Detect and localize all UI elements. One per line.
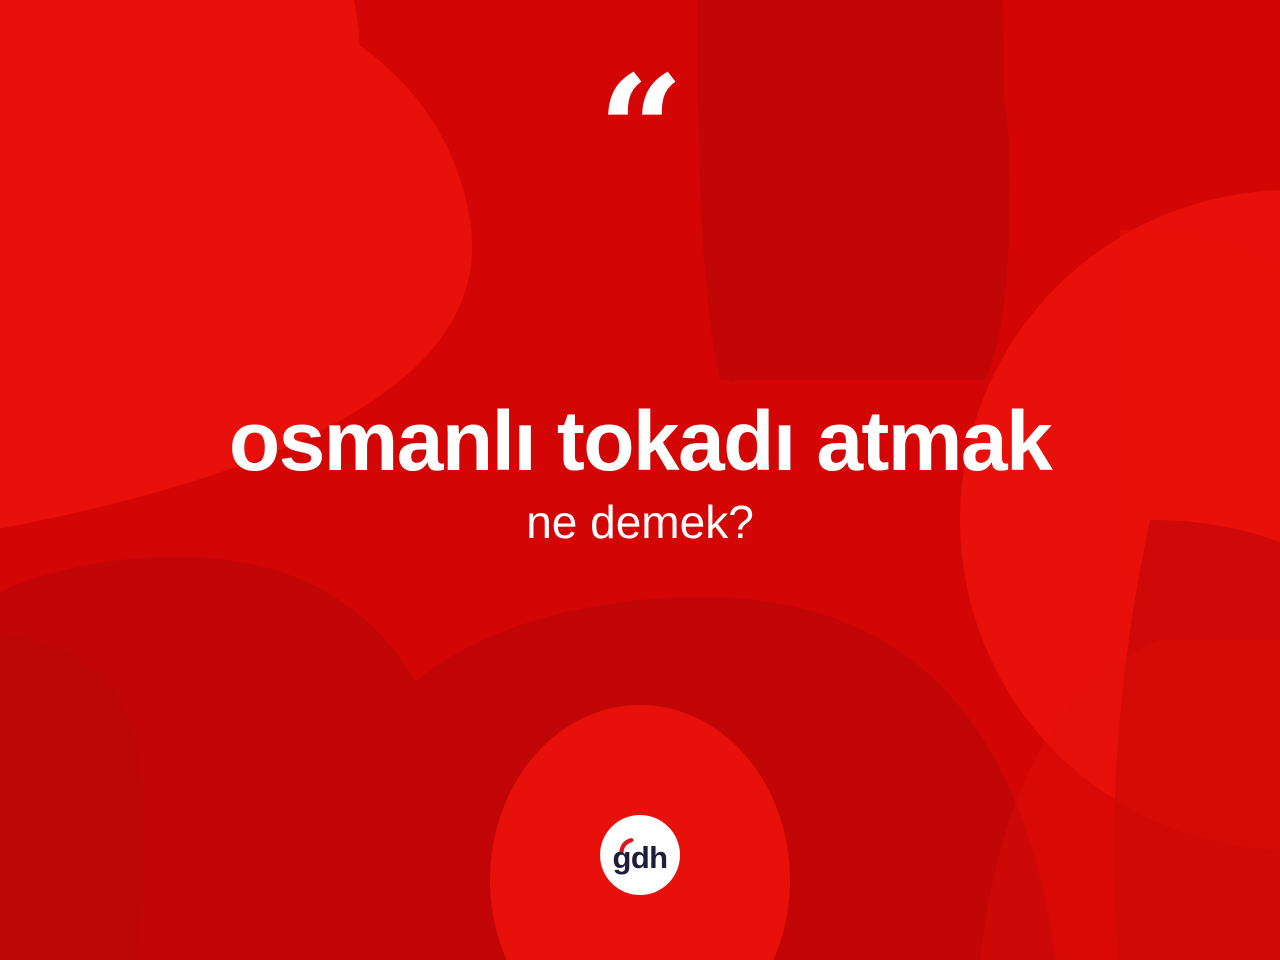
text-block: osmanlı tokadı atmak ne demek? xyxy=(0,398,1280,548)
social-quote-card: “ osmanlı tokadı atmak ne demek? gdh xyxy=(0,0,1280,960)
logo-wordmark: gdh xyxy=(612,840,667,875)
card-content: “ osmanlı tokadı atmak ne demek? gdh xyxy=(0,0,1280,960)
page-title: osmanlı tokadı atmak xyxy=(40,398,1240,485)
page-subtitle: ne demek? xyxy=(40,497,1240,548)
left-double-quotation-mark-icon: “ xyxy=(0,56,1280,206)
gdh-logo[interactable]: gdh xyxy=(600,815,680,895)
